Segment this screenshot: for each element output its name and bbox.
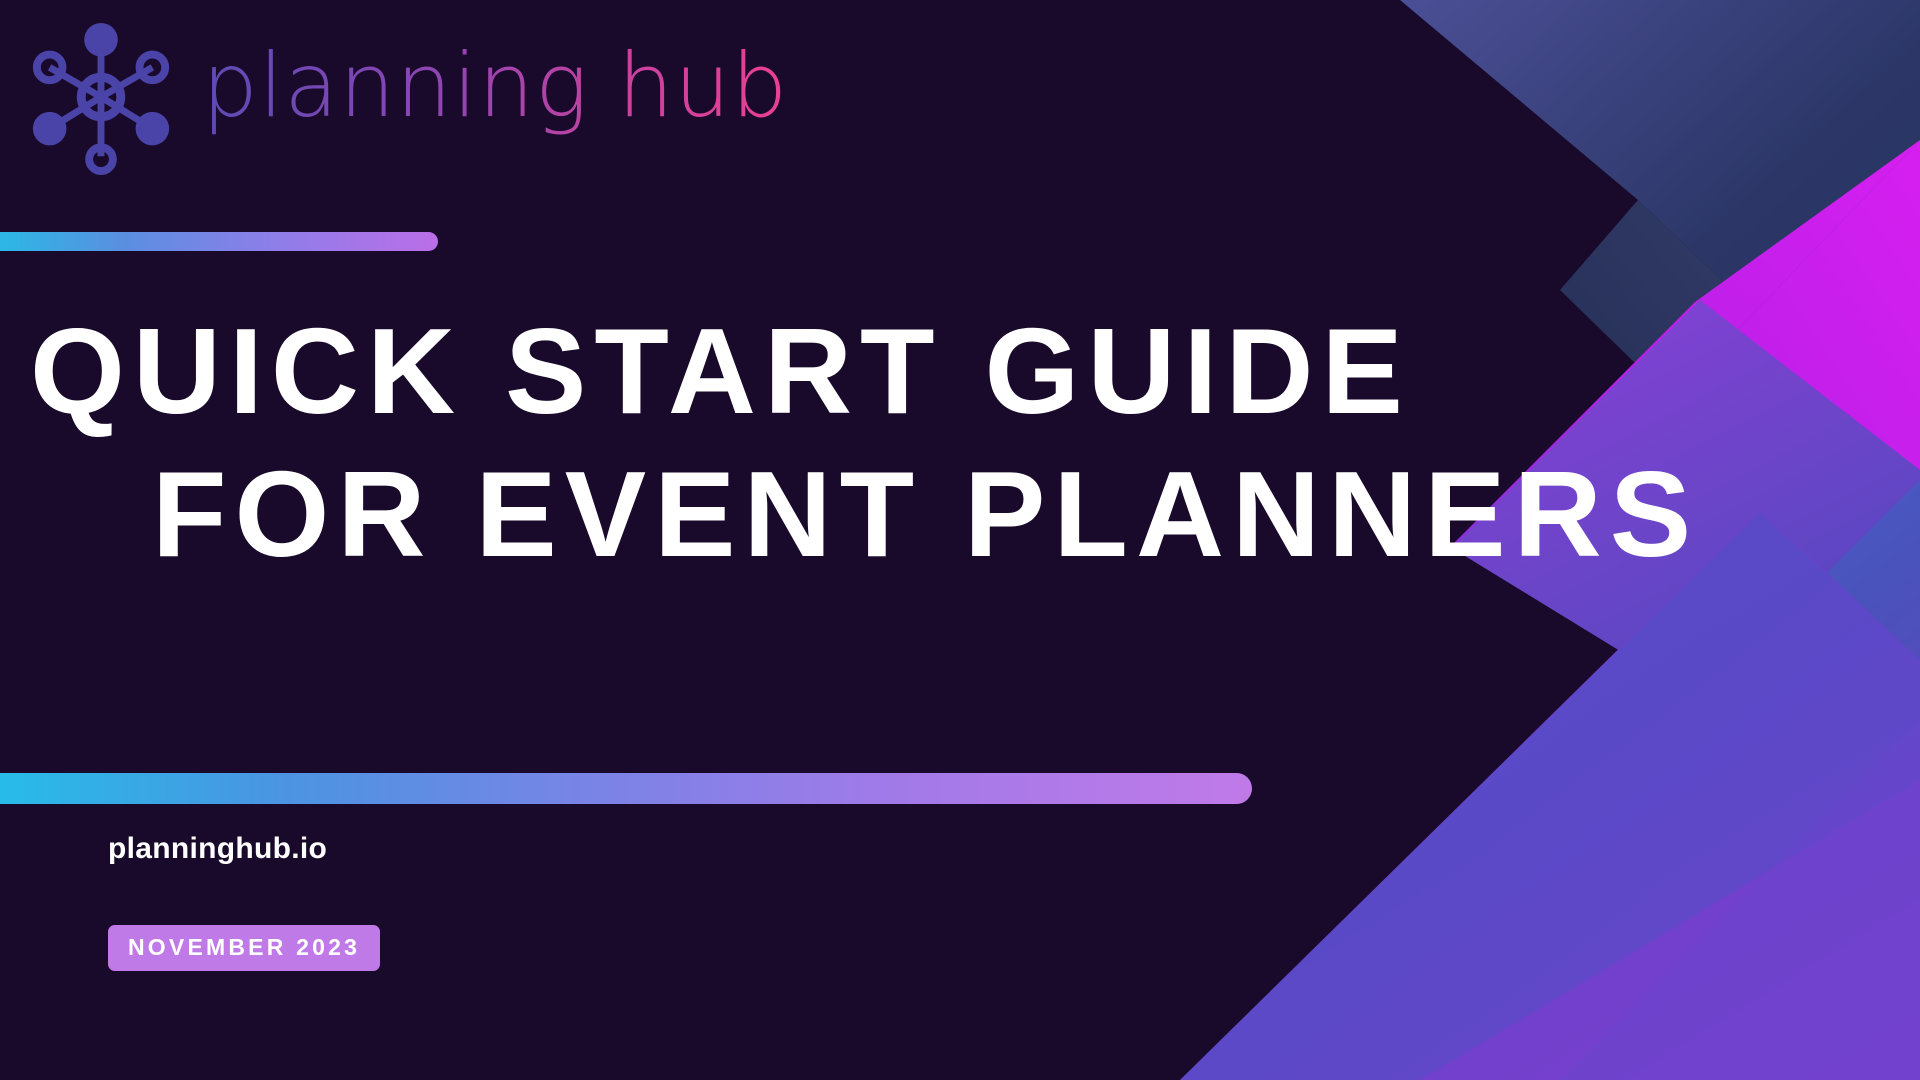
chevron-purple-large xyxy=(1180,510,1920,1080)
website-url[interactable]: planninghub.io xyxy=(108,832,327,866)
page-title: QUICK START GUIDE FOR EVENT PLANNERS xyxy=(0,300,1920,585)
top-accent-bar xyxy=(0,232,438,251)
title-line-1: QUICK START GUIDE xyxy=(30,300,1920,443)
poster-canvas: planning hub QUICK START GUIDE FOR EVENT… xyxy=(0,0,1920,1080)
svg-text:planning hub: planning hub xyxy=(202,34,788,137)
brand-wordmark: planning hub xyxy=(202,34,842,160)
network-hub-icon xyxy=(22,18,180,176)
brand-lockup: planning hub xyxy=(22,18,842,176)
bottom-accent-bar xyxy=(0,773,1252,804)
title-line-2: FOR EVENT PLANNERS xyxy=(152,443,1920,586)
date-badge: NOVEMBER 2023 xyxy=(108,925,380,971)
